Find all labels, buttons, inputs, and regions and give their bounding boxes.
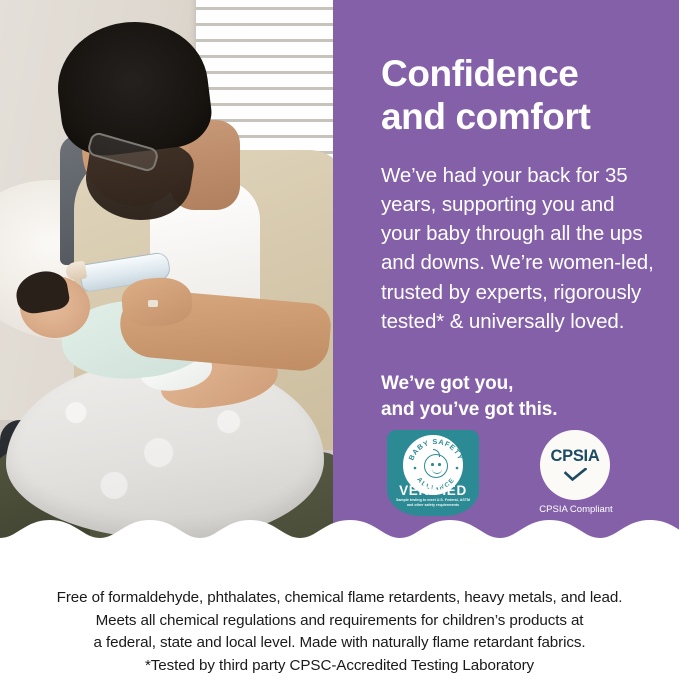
cpsia-seal-disc: CPSIA xyxy=(540,430,610,500)
certification-badges: BABY SAFETY ALLIANCE xyxy=(381,430,667,522)
tagline-line-2: and you’ve got this. xyxy=(381,399,557,420)
badge-cpsia: CPSIA CPSIA Compliant xyxy=(524,430,628,518)
cpsia-mark: CPSIA xyxy=(540,447,610,466)
page-title: Confidenceand comfort xyxy=(381,53,667,139)
badge-fine-print: Sample testing to meet U.S. Federal, AST… xyxy=(395,498,471,508)
disclaimer-line-1: Free of formaldehyde, phthalates, chemic… xyxy=(57,589,586,606)
disclaimer-line-3: a federal, state and local level. Made w… xyxy=(40,632,639,655)
testing-footnote: *Tested by third party CPSC-Accredited T… xyxy=(40,655,639,678)
cpsia-caption: CPSIA Compliant xyxy=(524,504,628,515)
tagline: We’ve got you,and you’ve got this. xyxy=(381,371,661,423)
scalloped-divider xyxy=(0,520,679,560)
hero-band: Confidenceand comfort We’ve had your bac… xyxy=(0,0,679,560)
badge-baby-safety-alliance: BABY SAFETY ALLIANCE xyxy=(387,430,479,516)
headline-line-2: and comfort xyxy=(381,96,590,137)
baby-face-icon xyxy=(424,454,448,478)
copy-panel: Confidenceand comfort We’ve had your bac… xyxy=(333,0,679,560)
disclaimer-text: Free of formaldehyde, phthalates, chemic… xyxy=(40,587,639,655)
checkmark-icon xyxy=(564,468,587,481)
product-info-card: Confidenceand comfort We’ve had your bac… xyxy=(0,0,679,679)
headline-line-1: Confidence xyxy=(381,53,578,94)
photo-wedding-ring xyxy=(148,300,158,307)
tagline-line-1: We’ve got you, xyxy=(381,373,513,394)
body-copy: We’ve had your back for 35 years, suppor… xyxy=(381,161,655,337)
badge-verified-label: VERIFIED xyxy=(387,483,479,498)
hero-photo xyxy=(0,0,333,560)
